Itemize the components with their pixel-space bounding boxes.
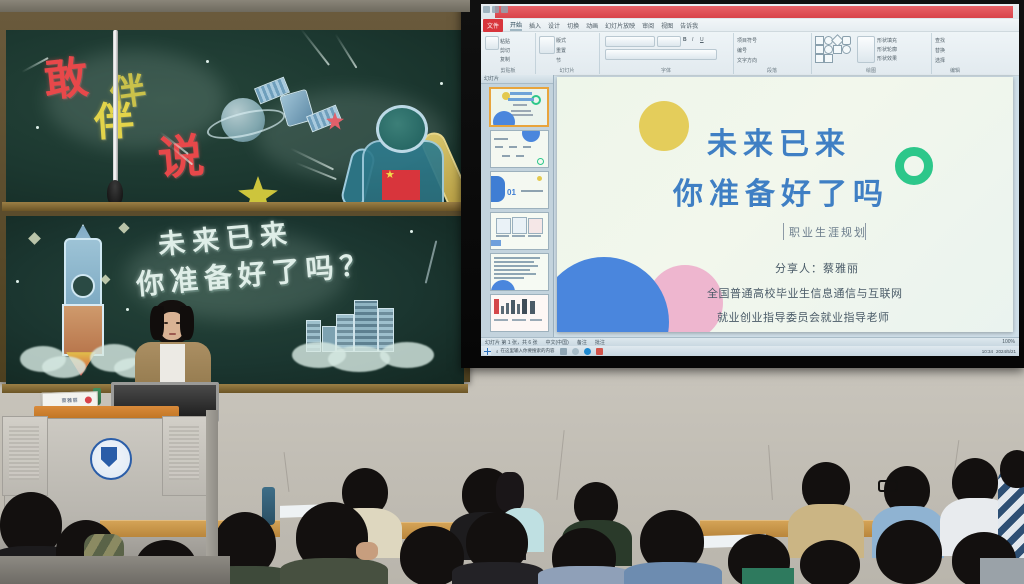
ribbon-group-font: B I U 字体 [599, 33, 734, 74]
slide-yellow-circle [639, 101, 689, 151]
cortana-icon[interactable] [572, 348, 579, 355]
tab-tellme[interactable]: 告诉我 [680, 21, 698, 30]
ribbon-group-label: 段落 [733, 67, 811, 74]
quick-access-toolbar[interactable] [483, 6, 508, 13]
bold-button[interactable]: B [683, 37, 687, 43]
new-slide-icon[interactable] [539, 36, 555, 54]
ribbon-group-clipboard: 粘贴 剪切 复制 剪贴板 [481, 33, 536, 74]
student-face [356, 542, 378, 560]
italic-button[interactable]: I [692, 37, 693, 43]
arrange-button[interactable] [857, 36, 875, 63]
student-head [800, 540, 860, 584]
slide-affiliation-line1: 全国普通高校毕业生信息通信与互联网 [707, 285, 903, 301]
chalk-char-3: 说 [156, 133, 208, 183]
slide-thumbnail-pane[interactable]: 幻灯片 1 2 [481, 75, 554, 337]
ribbon-group-drawing: 形状填充 形状轮廓 形状效果 绘图 [811, 33, 932, 74]
rocket-window-icon [71, 274, 95, 298]
taskbar-search[interactable]: ⌕ 在这里输入你要搜索的内容 [496, 348, 555, 354]
ppt-titlebar [481, 4, 1019, 20]
save-icon[interactable] [483, 6, 490, 13]
tab-animations[interactable]: 动画 [586, 21, 598, 30]
student-body [452, 562, 544, 584]
ribbon-group-label: 编辑 [931, 67, 979, 74]
textdir-label[interactable]: 文字方向 [737, 57, 757, 64]
astronaut-helmet-icon [376, 105, 428, 153]
student-body [280, 558, 388, 584]
tab-design[interactable]: 设计 [548, 21, 560, 30]
ribbon-tabs[interactable]: 文件 开始 插入 设计 切换 动画 幻灯片放映 审阅 视图 告诉我 [481, 19, 1019, 32]
font-size-select[interactable] [657, 36, 681, 47]
tab-insert[interactable]: 插入 [529, 21, 541, 30]
replace-label[interactable]: 替换 [935, 47, 945, 54]
windows-taskbar[interactable]: ⌕ 在这里输入你要搜索的内容 10:34 2024/5/21 [481, 346, 1019, 356]
china-flag-icon [382, 170, 420, 200]
ribbon-group-label: 剪贴板 [481, 67, 535, 74]
tab-transitions[interactable]: 切换 [567, 21, 579, 30]
student-body [624, 562, 722, 584]
search-placeholder: 在这里输入你要搜索的内容 [501, 348, 555, 354]
undo-icon[interactable] [492, 6, 499, 13]
tab-home[interactable]: 开始 [510, 20, 522, 31]
podium-speaker-grille [169, 424, 199, 480]
podium-speaker-grille [9, 424, 39, 480]
start-button[interactable] [484, 348, 491, 355]
find-label[interactable]: 查找 [935, 37, 945, 44]
slide-thumbnail-4[interactable]: 4 [490, 212, 549, 250]
copy-label[interactable]: 复制 [500, 56, 510, 63]
floor-shadow [0, 556, 230, 584]
reset-label[interactable]: 重置 [556, 47, 566, 54]
underline-button[interactable]: U [700, 37, 704, 43]
tray-date[interactable]: 2024/5/21 [996, 349, 1016, 354]
section-label[interactable]: 节 [556, 57, 561, 64]
slide-thumbnail-6[interactable]: 6 [490, 294, 549, 332]
slide-green-ring [895, 147, 933, 185]
bullets-label[interactable]: 项目符号 [737, 37, 757, 44]
shape-fill-label[interactable]: 形状填充 [877, 37, 897, 44]
slide-1[interactable]: 未来已来 你准备好了吗 职业生涯规划 分享人：蔡雅丽 全国普通高校毕业生信息通信… [557, 77, 1013, 332]
tab-view[interactable]: 视图 [661, 21, 673, 30]
ppt-status-bar[interactable]: 幻灯片 第 1 张，共 6 张 中文(中国) 备注 批注 100% [481, 337, 1019, 346]
layout-label[interactable]: 版式 [556, 37, 566, 44]
wall-column [206, 410, 218, 560]
ribbon-group-label: 幻灯片 [535, 67, 599, 74]
edge-icon[interactable] [584, 348, 591, 355]
slide-canvas[interactable]: 未来已来 你准备好了吗 职业生涯规划 分享人：蔡雅丽 全国普通高校毕业生信息通信… [557, 77, 1013, 332]
select-label[interactable]: 选择 [935, 57, 945, 64]
slide-title-line1: 未来已来 [707, 119, 851, 163]
student-body [742, 568, 794, 584]
student-body [538, 566, 634, 584]
cut-label[interactable]: 剪切 [500, 47, 510, 54]
slide-blue-circle [557, 257, 669, 332]
system-tray[interactable]: 10:34 2024/5/21 [982, 349, 1016, 354]
slide-thumbnail-3[interactable]: 3 01 [490, 171, 549, 209]
language-indicator[interactable]: 中文(中国) [546, 339, 569, 346]
pointer-baton [113, 30, 118, 190]
paste-icon[interactable] [485, 36, 499, 50]
paste-label: 粘贴 [500, 38, 510, 45]
student-hair [496, 472, 524, 512]
slide-affiliation-line2: 就业创业指导委员会就业指导老师 [717, 309, 890, 325]
chalk-char-1: 敢 [42, 56, 92, 105]
font-family-select[interactable] [605, 36, 655, 47]
student-head [1000, 450, 1024, 488]
comments-button[interactable]: 批注 [595, 339, 605, 346]
tab-file[interactable]: 文件 [483, 19, 503, 32]
font-format-row[interactable] [605, 49, 717, 60]
notes-button[interactable]: 备注 [577, 339, 587, 346]
thumbnail-pane-header: 幻灯片 [481, 75, 553, 84]
slide-presenter: 分享人：蔡雅丽 [775, 260, 859, 276]
classroom-scene: 敢 伴 说 伴 [0, 0, 1024, 584]
ribbon[interactable]: 粘贴 剪切 复制 剪贴板 版式 重置 节 幻灯片 B I U 字体 [481, 32, 1019, 76]
chalk-tray [2, 202, 468, 211]
numbering-label[interactable]: 编号 [737, 47, 747, 54]
zoom-level[interactable]: 100% [1002, 339, 1015, 345]
shape-effects-label[interactable]: 形状效果 [877, 55, 897, 62]
chalkboard: 敢 伴 说 伴 [0, 12, 470, 382]
student-head [876, 520, 942, 584]
ppt-title-text [495, 6, 1013, 18]
tab-slideshow[interactable]: 幻灯片放映 [605, 21, 635, 30]
chalkboard-upper-panel: 敢 伴 说 伴 [6, 30, 464, 206]
ribbon-group-slides: 版式 重置 节 幻灯片 [535, 33, 600, 74]
ceiling-strip [0, 0, 470, 12]
ppt-icon[interactable] [596, 348, 603, 355]
slide-thumbnail-2[interactable]: 2 [490, 130, 549, 168]
slide-indicator: 幻灯片 第 1 张，共 6 张 [485, 339, 538, 346]
slide-title-line2: 你准备好了吗 [673, 169, 889, 213]
slide-thumbnail-1[interactable]: 1 [489, 87, 549, 127]
ribbon-group-paragraph: 项目符号 编号 文字方向 段落 [733, 33, 812, 74]
slide-thumbnail-5[interactable]: 5 [490, 253, 549, 291]
tray-time[interactable]: 10:34 [982, 349, 993, 354]
shape-outline-label[interactable]: 形状轮廓 [877, 46, 897, 53]
tab-review[interactable]: 审阅 [642, 21, 654, 30]
ribbon-group-editing: 查找 替换 选择 编辑 [931, 33, 979, 74]
slide-tagline: 职业生涯规划 [789, 224, 867, 240]
chalkboard-lower-panel: 未来已来 你准备好了吗？ [6, 216, 464, 384]
display-screen[interactable]: － □ ✕ 文件 开始 插入 设计 切换 动画 幻灯片放映 审阅 视图 告诉我 … [481, 4, 1019, 356]
search-icon: ⌕ [496, 349, 499, 354]
eyeglasses [878, 480, 898, 492]
task-view-icon[interactable] [560, 348, 567, 355]
student-body [980, 558, 1024, 584]
ribbon-group-label: 绘图 [811, 67, 931, 74]
redo-icon[interactable] [501, 6, 508, 13]
ribbon-group-label: 字体 [599, 67, 733, 74]
